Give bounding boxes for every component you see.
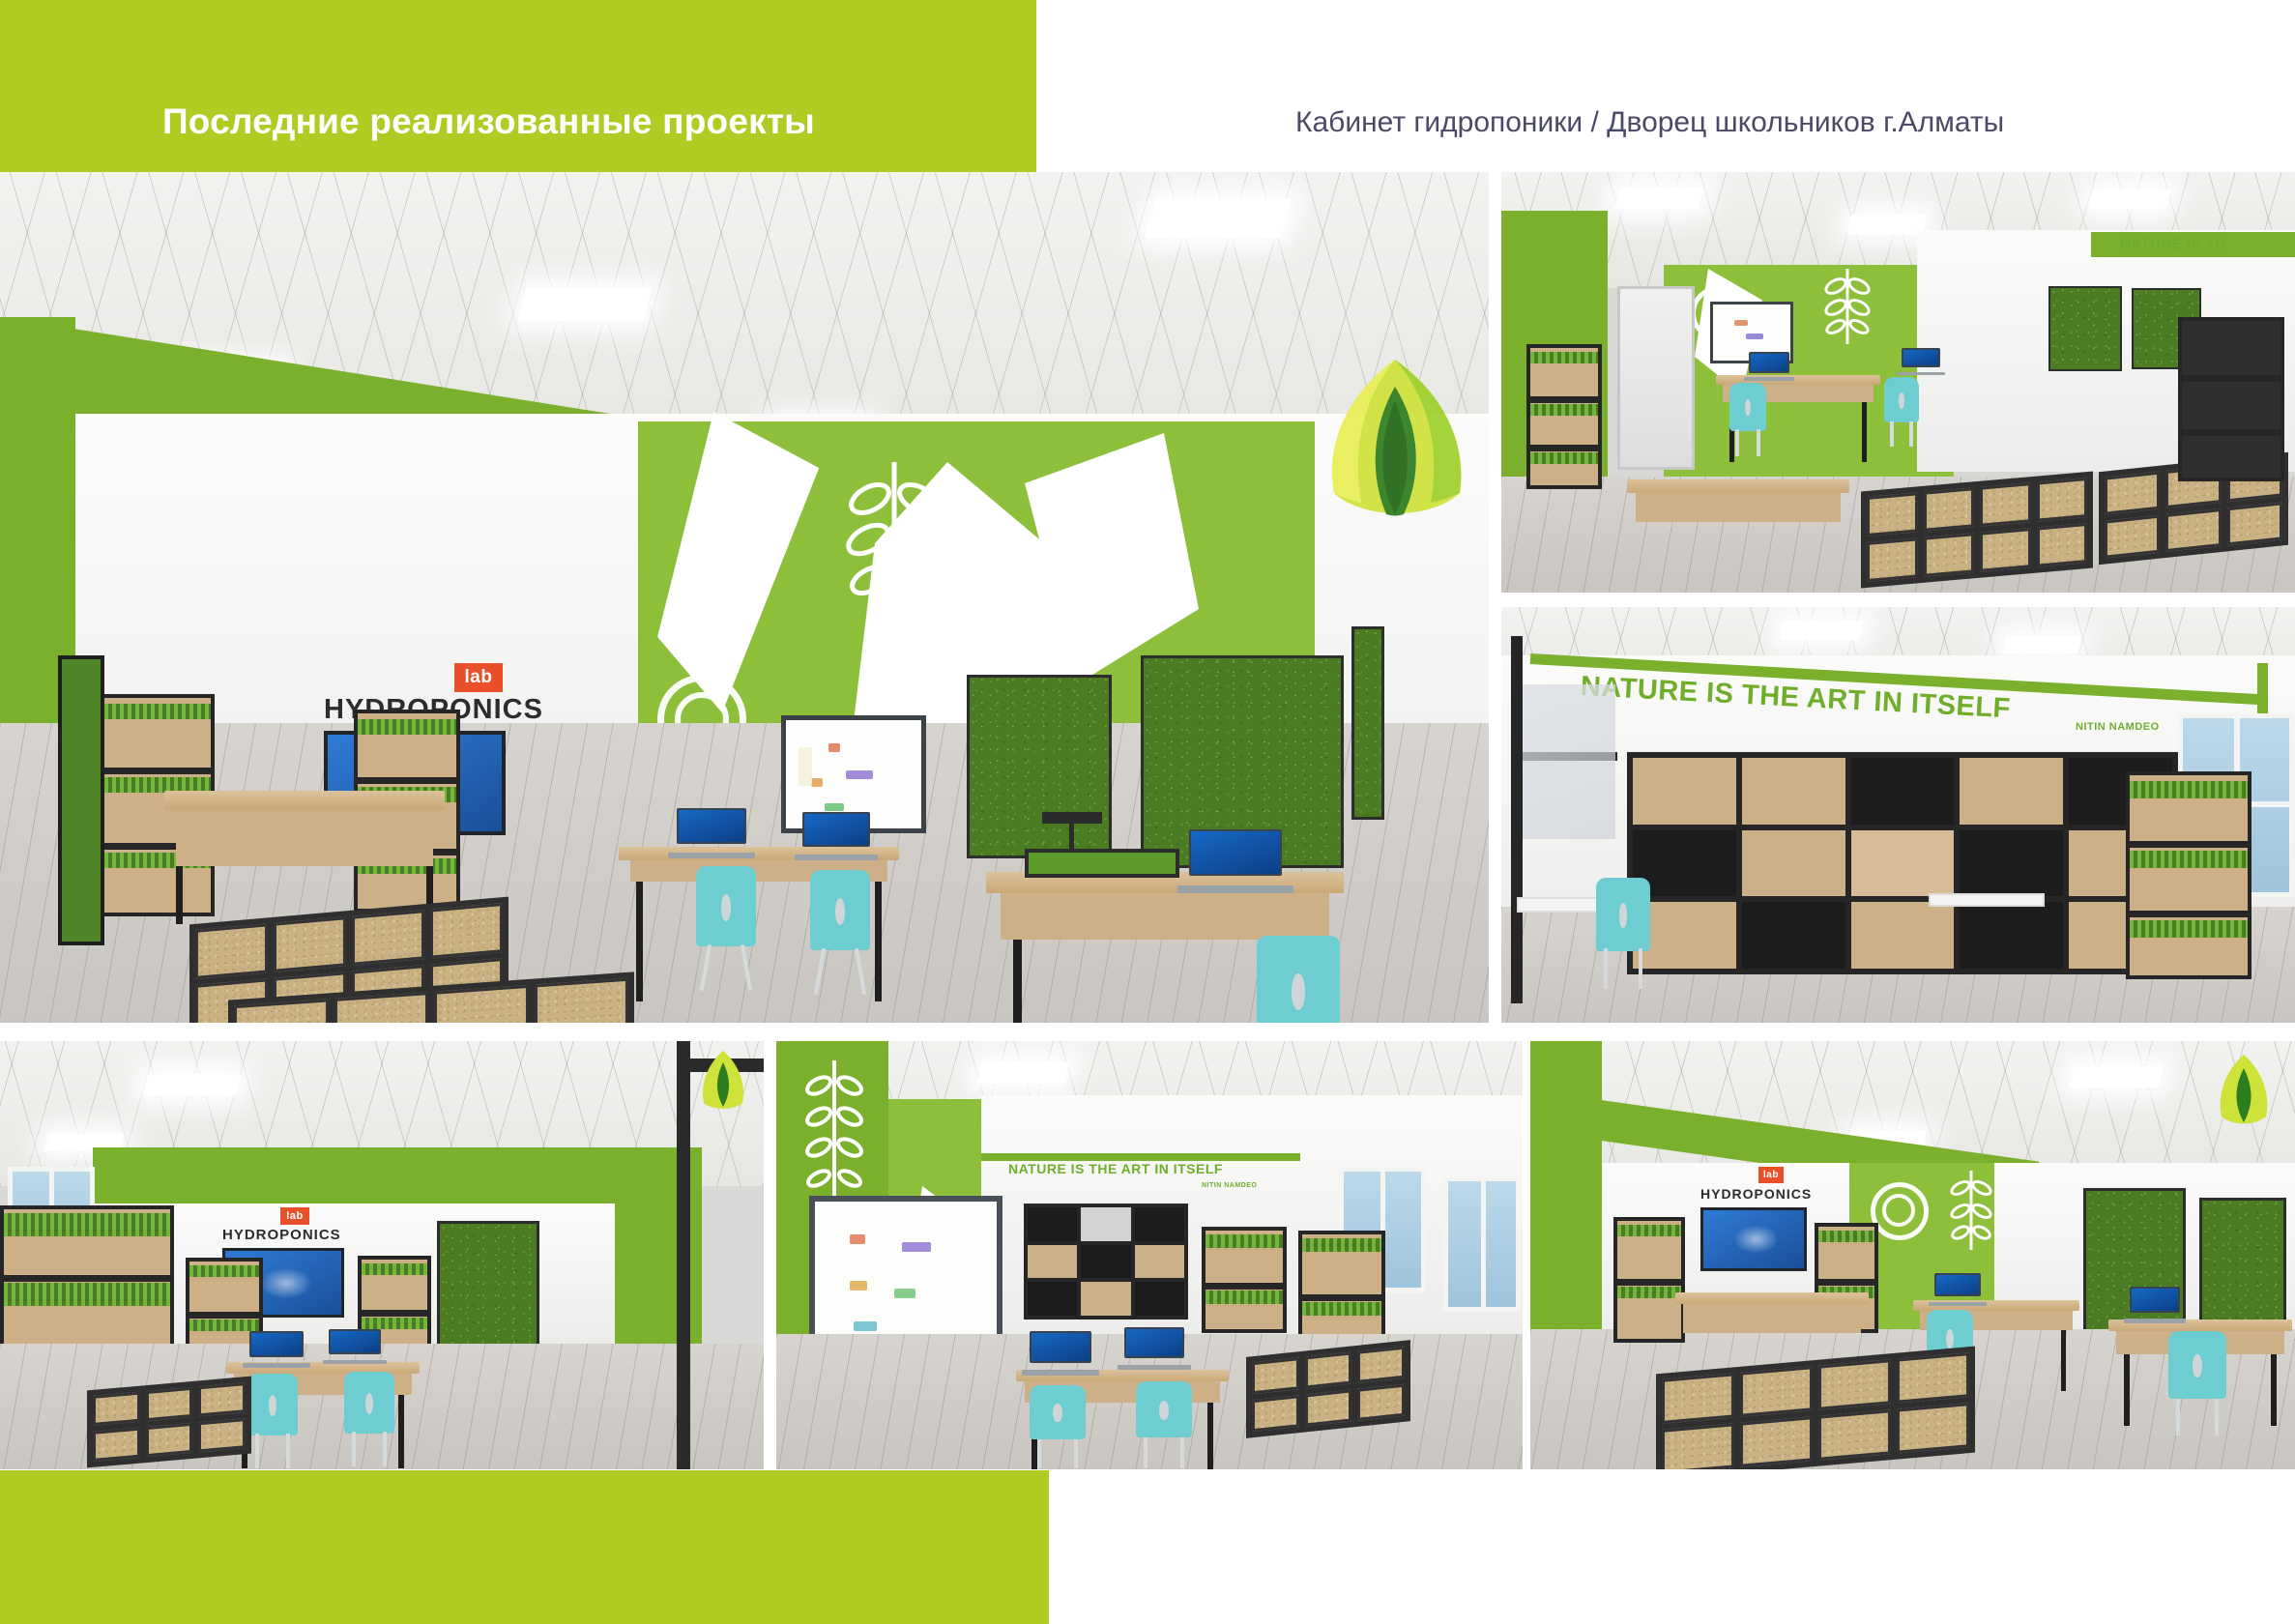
counter-top	[1675, 1292, 1869, 1304]
rack-shelf	[1530, 396, 1598, 403]
chair-handle-hole	[2193, 1354, 2202, 1377]
laptop	[2130, 1287, 2180, 1323]
rack-greens	[362, 1318, 427, 1329]
laptop-screen	[1124, 1327, 1184, 1358]
hydroponics-sign: HYDROPONICS	[222, 1227, 341, 1243]
whiteboard-paper	[799, 747, 812, 786]
desk-leg	[1862, 402, 1867, 462]
bed-cell	[1305, 1351, 1352, 1388]
rack-greens	[4, 1213, 170, 1236]
wall-leaf-decoration	[831, 452, 957, 626]
bed-cell	[1897, 1352, 1969, 1404]
bed-cell	[1980, 482, 2031, 527]
lab-badge: lab	[454, 663, 503, 692]
whiteboard-marker-dot	[1746, 333, 1763, 339]
hydroponics-sign: HYDROPONICS	[1700, 1186, 1812, 1202]
bed-cell	[1357, 1384, 1405, 1421]
cabinet-open-shelf	[1028, 1207, 1077, 1241]
bed-cell	[198, 1418, 246, 1452]
rack-shelf	[189, 1312, 259, 1319]
moss-wall-panel	[967, 675, 1112, 858]
whiteboard-marker-dot	[894, 1289, 915, 1298]
rack-shelf	[2182, 375, 2280, 382]
classroom-chair	[1596, 878, 1650, 992]
rack-greens	[1617, 1225, 1681, 1236]
bed-cell	[1252, 1357, 1299, 1394]
rack-greens	[2130, 851, 2248, 868]
chair-leg	[383, 1432, 387, 1466]
whiteboard-marker-dot	[850, 1281, 867, 1290]
bed-cell	[146, 1387, 193, 1421]
cabinet-open-shelf	[1960, 902, 2063, 969]
chair-handle-hole	[721, 894, 731, 922]
gallery-panel-top-right-overview[interactable]: NATURE IS TH	[1501, 172, 2295, 593]
laptop	[677, 808, 746, 858]
wall-leaf-decoration	[1948, 1167, 1994, 1254]
rack-shelf	[4, 1275, 170, 1282]
desk-apron	[1001, 893, 1329, 940]
counter-apron	[1636, 493, 1841, 522]
storage-cabinet	[1627, 752, 2178, 974]
lab-badge: lab	[1758, 1167, 1784, 1183]
nature-quote-author: NITIN NAMDEO	[1202, 1182, 1257, 1189]
ceiling-lamp	[1614, 188, 1702, 209]
lab-badge: lab	[280, 1207, 309, 1225]
chair-leg	[1639, 948, 1642, 989]
bed-cell	[334, 992, 429, 1023]
room-door	[1617, 286, 1695, 470]
rack-shelf	[1818, 1279, 1874, 1286]
laptop-base	[795, 855, 879, 860]
chair-leg	[286, 1434, 290, 1468]
cabinet-door[interactable]	[1633, 758, 1736, 825]
chair-leg	[814, 948, 826, 995]
bed-cell	[198, 1382, 246, 1416]
laptop-base	[243, 1363, 309, 1368]
bed-cell	[2227, 502, 2282, 545]
whiteboard-marker-dot	[825, 803, 844, 811]
laptop-base	[1897, 372, 1945, 375]
chair-leg	[1074, 1439, 1078, 1468]
laptop	[1030, 1331, 1091, 1376]
ceiling-lamp	[1145, 199, 1291, 238]
cabinet-door[interactable]	[1742, 830, 1845, 897]
chair-leg	[1890, 421, 1894, 447]
desk-leg	[1207, 1403, 1213, 1469]
bed-cell	[1897, 1403, 1969, 1454]
chair-leg	[741, 944, 752, 991]
green-wall-band	[93, 1147, 673, 1205]
room-window	[1443, 1176, 1521, 1312]
cabinet-open-shelf	[1960, 830, 2063, 897]
chair-leg	[855, 948, 866, 995]
desk-plant-tray	[1025, 849, 1179, 878]
bed-cell	[1662, 1373, 1734, 1424]
rack-shelf	[2182, 429, 2280, 436]
gallery-panel-bottom-right-wide[interactable]: lab HYDROPONICS	[1530, 1041, 2295, 1469]
classroom-chair	[1136, 1381, 1192, 1469]
rack-shelf	[1530, 445, 1598, 451]
bed-cell	[234, 999, 329, 1023]
cabinet-door[interactable]	[1960, 758, 2063, 825]
nature-quote-partial: NATURE IS TH	[2120, 236, 2226, 252]
rack-greens	[1530, 404, 1598, 416]
bed-cell	[1818, 1359, 1891, 1410]
laptop-base	[2124, 1319, 2186, 1323]
rack-shelf	[1302, 1294, 1381, 1301]
counter-top	[164, 791, 445, 810]
classroom-chair	[810, 870, 870, 996]
chair-leg	[352, 1432, 356, 1466]
ceiling-lamp	[142, 1074, 241, 1095]
whiteboard-marker-dot	[1734, 320, 1748, 326]
counter-apron	[1683, 1304, 1861, 1333]
laptop-base	[1022, 1370, 1098, 1376]
gallery-panel-bottom-left-greenwall[interactable]: lab HYDROPONICS	[0, 1041, 764, 1469]
laptop	[1189, 829, 1282, 893]
chair-handle-hole	[1053, 1404, 1061, 1422]
desk-leg	[2124, 1354, 2130, 1426]
desk-leg	[2061, 1330, 2066, 1391]
lab-badge-label: lab	[286, 1210, 303, 1222]
chair-leg	[1909, 421, 1913, 447]
laptop	[1749, 352, 1789, 381]
rack-greens	[1530, 352, 1598, 363]
classroom-chair	[696, 866, 756, 992]
chair-leg	[1604, 948, 1608, 989]
bed-cell	[1740, 1416, 1813, 1467]
bed-cell	[352, 910, 424, 966]
rack-greens	[189, 1319, 259, 1331]
gallery-panel-bottom-mid-whiteboard[interactable]: NATURE IS THE ART IN ITSELF NITIN NAMDEO	[776, 1041, 1523, 1469]
whiteboard-marker-dot	[828, 743, 840, 752]
whiteboard-marker-dot	[850, 1234, 865, 1244]
black-pole	[677, 1041, 690, 1469]
cabinet-open-shelf	[1135, 1282, 1184, 1316]
cabinet-open-shelf	[1851, 758, 1955, 825]
bed-cell	[1867, 537, 1918, 582]
laptop-screen	[1934, 1273, 1981, 1296]
rack-greens	[1530, 452, 1598, 464]
bed-cell	[195, 923, 268, 979]
chair-handle-hole	[1899, 392, 1904, 408]
plant-rack	[1526, 344, 1602, 489]
cabinet-open-shelf	[1081, 1245, 1130, 1279]
laptop-screen	[677, 808, 746, 844]
bed-cell	[1867, 492, 1918, 536]
laptop-screen	[802, 812, 870, 847]
wooden-counter	[1627, 479, 1849, 586]
bed-cell	[274, 916, 346, 972]
white-table	[1929, 893, 2045, 907]
wall-tv	[1700, 1207, 1807, 1271]
moss-wall-panel	[2048, 286, 2122, 371]
cabinet-door[interactable]	[1851, 830, 1955, 897]
chair-leg	[2176, 1399, 2180, 1435]
counter-top	[1627, 479, 1849, 493]
chair-leg	[1757, 429, 1760, 456]
bed-cell	[2037, 478, 2088, 522]
laptop-screen	[2130, 1287, 2180, 1313]
bed-cell	[535, 978, 629, 1023]
rack-shelf	[362, 1310, 427, 1317]
classroom-chair	[344, 1372, 394, 1468]
chair-leg	[1735, 429, 1739, 456]
rack-shelf	[97, 768, 211, 774]
cabinet-open-shelf	[1135, 1207, 1184, 1241]
bed-cell	[1924, 533, 1975, 577]
ceiling-lamp	[976, 1062, 1069, 1084]
chair-leg	[1037, 1439, 1041, 1468]
bed-cell	[2105, 472, 2160, 515]
planting-bed	[1861, 472, 2093, 589]
laptop	[1124, 1327, 1184, 1370]
laptop-base	[1744, 377, 1794, 381]
tv-glow	[1733, 1225, 1779, 1254]
classroom-chair	[1257, 936, 1340, 1023]
desk-leg	[398, 1395, 404, 1468]
page-title: Последние реализованные проекты	[162, 101, 815, 142]
plant-rack	[1202, 1227, 1287, 1333]
leaf-logo-icon	[692, 1047, 754, 1115]
laptop-screen	[329, 1329, 381, 1354]
cabinet-door[interactable]	[1742, 758, 1845, 825]
rack-shelf	[2130, 911, 2248, 917]
tv-glow	[260, 1267, 312, 1299]
laptop	[1934, 1273, 1981, 1306]
chair-handle-hole	[1159, 1401, 1168, 1420]
chair-handle-hole	[365, 1393, 373, 1414]
rack-greens	[362, 1263, 427, 1275]
ceiling-lamp	[1847, 215, 1928, 234]
moss-wall-panel	[2199, 1198, 2286, 1333]
whiteboard-marker-dot	[811, 778, 823, 787]
chair-leg	[700, 944, 712, 991]
wall-swirl-icon	[1882, 1194, 1915, 1227]
leaf-logo-icon	[2207, 1051, 2280, 1130]
cabinet-door[interactable]	[1081, 1282, 1130, 1316]
laptop	[249, 1331, 304, 1368]
gallery-panel-main-classroom[interactable]: lab HYDROPONICS	[0, 172, 1489, 1023]
whiteboard-marker-dot	[846, 770, 873, 779]
laptop-screen	[249, 1331, 304, 1357]
header-banner	[0, 0, 1036, 172]
bed-cell	[2165, 508, 2221, 552]
laptop-screen	[1902, 348, 1940, 367]
chair-handle-hole	[1946, 1329, 1954, 1348]
planting-bed	[1246, 1340, 1410, 1438]
leaf-decoration-icon	[831, 452, 957, 626]
bed-cell	[2037, 523, 2088, 567]
bed-cell	[1740, 1366, 1813, 1417]
rack-greens	[4, 1283, 170, 1306]
wall-leaf-decoration	[1820, 265, 1874, 348]
cabinet-door[interactable]	[1028, 1245, 1077, 1279]
bed-cell	[1924, 487, 1975, 532]
chair-leg	[2215, 1399, 2219, 1435]
counter-apron	[176, 810, 434, 866]
laptop-screen	[1030, 1331, 1091, 1363]
laptop	[329, 1329, 381, 1364]
rack-shelf	[1617, 1279, 1681, 1286]
lab-badge-label: lab	[465, 667, 493, 688]
laptop-base	[1929, 1302, 1987, 1306]
desk-leg	[636, 882, 643, 1001]
grow-lamp-post	[1069, 822, 1074, 853]
leaf-decoration-icon	[1948, 1167, 1994, 1254]
rack-greens	[189, 1265, 259, 1277]
laptop-screen	[1749, 352, 1789, 373]
ceiling-lamp	[518, 288, 652, 321]
window-mullion	[1481, 1181, 1486, 1307]
moss-wall-strip	[1351, 626, 1384, 820]
laptop-base	[323, 1360, 388, 1364]
leaf-logo-icon	[1295, 348, 1489, 532]
rack-shelf	[358, 777, 456, 784]
rack-greens	[1818, 1231, 1874, 1242]
bed-cell	[93, 1428, 140, 1462]
cabinet-door[interactable]	[1851, 902, 1955, 969]
desk-leg	[1013, 940, 1022, 1023]
plant-rack	[1613, 1217, 1685, 1343]
laptop-base	[1118, 1365, 1192, 1370]
laptop-base	[1177, 885, 1293, 893]
counter-leg	[176, 866, 183, 924]
cabinet-door[interactable]	[1135, 1245, 1184, 1279]
lab-badge-label: lab	[1763, 1170, 1779, 1180]
classroom-chair	[1884, 377, 1919, 449]
bed-cell	[434, 985, 529, 1023]
laptop-base	[668, 853, 754, 858]
rack-shelf	[2130, 841, 2248, 848]
slide-page: Последние реализованные проекты Кабинет …	[0, 0, 2295, 1624]
chair-leg	[255, 1434, 259, 1468]
bed-cell	[1662, 1423, 1734, 1469]
laptop	[802, 812, 870, 860]
rack-greens	[1302, 1238, 1381, 1252]
rack-greens	[97, 704, 211, 719]
ceiling-lamp	[2069, 1066, 2164, 1087]
laptop-screen	[1189, 829, 1282, 876]
desk-leg	[2271, 1354, 2277, 1426]
rack-greens	[1206, 1290, 1283, 1304]
ceiling-lamp	[1780, 621, 1864, 640]
green-accent-stripe	[981, 1153, 1300, 1161]
nature-quote-author: NITIN NAMDEO	[2076, 721, 2160, 733]
plant-rack	[2126, 771, 2251, 979]
rack-greens	[1206, 1234, 1283, 1248]
bed-cell	[2105, 515, 2160, 559]
classroom-chair	[2168, 1331, 2226, 1437]
chair-handle-hole	[835, 898, 845, 926]
laptop	[1902, 348, 1940, 375]
plant-column	[58, 655, 104, 945]
classroom-chair	[1030, 1385, 1086, 1469]
chair-leg	[1180, 1437, 1184, 1468]
gallery-panel-mid-right-storage[interactable]: NATURE IS THE ART IN ITSELF NITIN NAMDEO	[1501, 607, 2295, 1023]
cabinet-open-shelf	[1742, 902, 1845, 969]
rack-greens	[358, 719, 456, 735]
bed-cell	[93, 1392, 140, 1426]
bed-cell	[1305, 1389, 1352, 1426]
footer-banner	[0, 1470, 1049, 1624]
rack-greens	[1617, 1287, 1681, 1298]
bed-cell	[1980, 528, 2031, 572]
glass-panel	[1523, 684, 1615, 839]
ceiling-lamp	[2002, 636, 2081, 653]
rack-greens	[2130, 920, 2248, 938]
bed-cell	[146, 1423, 193, 1457]
bed-cell	[430, 903, 503, 959]
rack-shelf	[1206, 1283, 1283, 1290]
classroom-chair	[1729, 383, 1766, 458]
cabinet-door[interactable]	[1081, 1207, 1130, 1241]
rack-greens	[2130, 781, 2248, 798]
ceiling-lamp	[2089, 189, 2171, 209]
project-subtitle: Кабинет гидропоники / Дворец школьников …	[1295, 106, 2004, 139]
whiteboard-marker-dot	[902, 1242, 931, 1252]
bed-cell	[1252, 1395, 1299, 1432]
rack-greens	[1302, 1302, 1381, 1316]
storage-shelf	[2178, 317, 2284, 481]
chair-handle-hole	[1292, 973, 1305, 1011]
desk-leg	[875, 882, 882, 1001]
nature-quote: NATURE IS THE ART IN ITSELF	[1008, 1161, 1223, 1176]
classroom-chair	[247, 1374, 298, 1469]
black-frame-partition	[1511, 636, 1523, 1003]
planting-bed	[87, 1377, 251, 1468]
cabinet-open-shelf	[1028, 1282, 1077, 1316]
bed-cell	[1818, 1409, 1891, 1461]
chair-leg	[1144, 1437, 1147, 1468]
bed-cell	[1357, 1347, 1405, 1383]
chair-handle-hole	[269, 1395, 276, 1416]
leaf-decoration-icon	[1820, 265, 1874, 348]
storage-cabinet	[1024, 1203, 1188, 1319]
whiteboard-marker-dot	[854, 1321, 877, 1331]
